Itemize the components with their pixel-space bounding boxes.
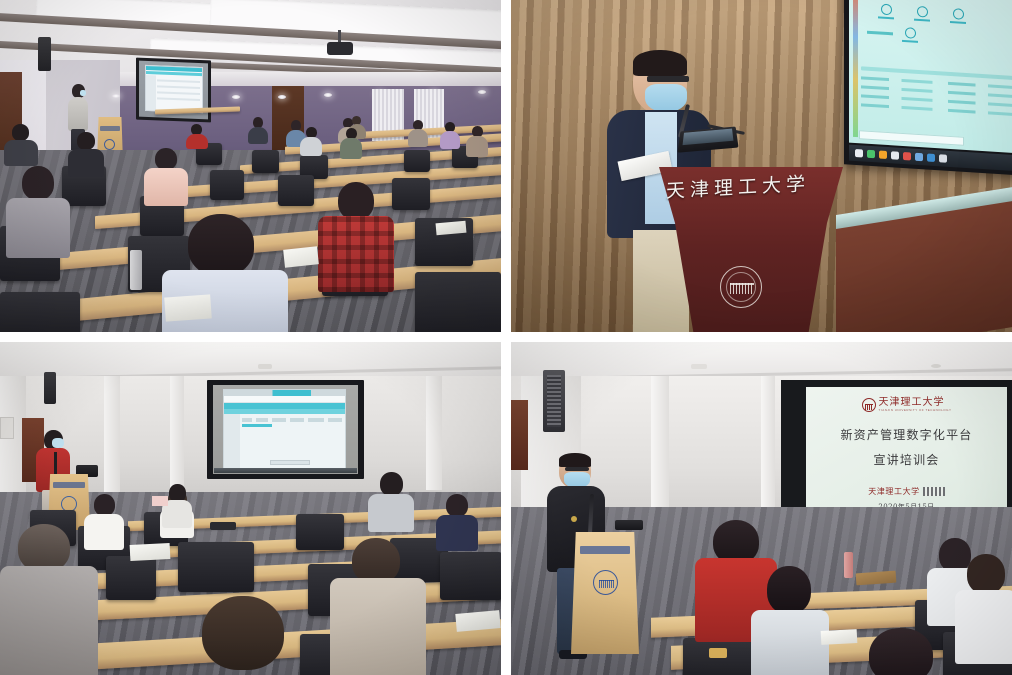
search-field xyxy=(859,130,964,146)
dashboard-card xyxy=(911,5,933,22)
attendee xyxy=(186,124,208,148)
attendee xyxy=(751,566,829,675)
chair xyxy=(178,542,254,592)
chair xyxy=(404,150,430,172)
notebook xyxy=(130,543,171,561)
downlight xyxy=(232,95,240,99)
wall-speaker xyxy=(543,370,565,432)
app-table-row xyxy=(157,97,200,101)
card-icon xyxy=(953,8,964,20)
presenter-torso xyxy=(68,97,88,131)
chair xyxy=(210,170,244,200)
photo-top-right[interactable]: 天津理工大学 xyxy=(511,0,1012,332)
laptop-screen xyxy=(683,129,734,146)
wall-speaker xyxy=(44,372,56,404)
desktop-icon-column xyxy=(853,0,858,137)
podium xyxy=(571,532,639,654)
attendee xyxy=(144,148,188,204)
notebook xyxy=(455,610,500,632)
attendee xyxy=(300,127,322,155)
attendee xyxy=(466,126,488,156)
taskbar-app-icon xyxy=(891,151,899,160)
attendee xyxy=(368,472,414,530)
attendee xyxy=(4,124,38,164)
card-label xyxy=(914,19,930,22)
windows-taskbar xyxy=(214,468,357,473)
thermos-bottle xyxy=(130,250,142,290)
card-icon xyxy=(905,27,916,39)
attendee xyxy=(408,120,428,146)
notebook xyxy=(164,294,212,321)
gutter-center xyxy=(501,332,511,342)
taskbar-app-icon xyxy=(879,150,887,159)
wall-pillar xyxy=(651,376,669,514)
attendee xyxy=(436,494,478,550)
card-label xyxy=(902,40,918,43)
mobile-phone xyxy=(210,522,236,530)
pagination-bar xyxy=(270,460,310,465)
projection-screen-frame: 天津理工大学 TIANJIN UNIVERSITY OF TECHNOLOGY … xyxy=(781,380,1012,525)
face-mask xyxy=(52,438,64,448)
photo-collage: 天津理工大学 xyxy=(0,0,1012,675)
slide-title-line-2: 宣讲培训会 xyxy=(873,451,939,468)
card-icon xyxy=(881,4,892,16)
taskbar-app-icon xyxy=(903,152,911,161)
gutter-horizontal-left xyxy=(0,332,501,342)
app-table-row xyxy=(157,85,200,89)
smoke-detector xyxy=(258,364,272,369)
attendee xyxy=(248,117,268,143)
dashboard-card xyxy=(899,27,921,44)
notebook xyxy=(821,629,858,645)
classroom-scene-white xyxy=(0,342,501,675)
university-seal xyxy=(104,139,115,150)
chair xyxy=(106,556,156,600)
table-header-row xyxy=(242,418,342,422)
downlight xyxy=(478,90,486,94)
eyeglasses xyxy=(565,467,589,471)
chair xyxy=(0,292,80,332)
podium-institution-plate xyxy=(100,126,120,131)
dashboard-card-row xyxy=(875,3,969,25)
projection-screen xyxy=(213,385,358,474)
taskbar-app-icon xyxy=(927,153,935,162)
face-mask xyxy=(80,90,86,96)
photo-top-left[interactable] xyxy=(0,0,501,332)
wall-pillar xyxy=(426,376,442,490)
card-label xyxy=(950,21,966,24)
slide-title-line-1: 新资产管理数字化平台 xyxy=(840,426,972,443)
gutter-vertical-bottom xyxy=(501,342,511,675)
presenter-hair xyxy=(633,50,687,76)
wall-pillar xyxy=(170,376,184,492)
app-sidebar xyxy=(146,75,156,110)
ceiling-vent xyxy=(691,364,707,369)
slide-footer-logo: 天津理工大学 xyxy=(868,486,945,497)
podium-institution-plate xyxy=(53,482,85,488)
attendee xyxy=(955,554,1012,662)
footer-wordmark: 天津理工大学 xyxy=(868,486,920,497)
app-sidebar xyxy=(224,414,240,469)
attendee-foreground xyxy=(855,628,947,675)
podium-institution-plate xyxy=(580,546,630,554)
seal-building-glyph xyxy=(730,283,754,294)
projector xyxy=(327,42,353,55)
face-mask xyxy=(645,84,687,112)
eyeglasses-case xyxy=(709,648,727,658)
speaker-grill xyxy=(547,375,561,427)
downlight xyxy=(324,93,332,97)
university-seal xyxy=(593,570,618,595)
podium-closeup-scene: 天津理工大学 xyxy=(511,0,1012,332)
wall-pillar xyxy=(104,376,120,494)
data-table xyxy=(861,66,1012,116)
university-seal xyxy=(720,266,762,308)
downlight xyxy=(112,94,120,98)
wall-panel xyxy=(0,417,14,439)
attendee-foreground xyxy=(0,524,98,675)
attendee-foreground xyxy=(188,596,304,675)
attendee xyxy=(6,166,70,256)
dashboard-card-row xyxy=(899,27,921,44)
paper-cup xyxy=(152,496,168,506)
chair xyxy=(278,175,314,206)
eyeglasses xyxy=(647,76,689,82)
app-table-row xyxy=(157,79,200,83)
attendee xyxy=(440,122,460,148)
notebook xyxy=(283,246,319,267)
lapel-pin xyxy=(571,516,577,522)
projected-browser xyxy=(223,389,346,470)
wall-speaker xyxy=(38,37,51,71)
wall-pillar xyxy=(761,376,775,510)
taskbar-app-icon xyxy=(939,154,947,163)
attendee xyxy=(318,182,394,290)
laptop xyxy=(615,520,643,530)
chair xyxy=(440,552,501,600)
attendee xyxy=(68,132,104,174)
footer-logo-bar xyxy=(923,487,945,496)
dashboard-card xyxy=(875,3,897,20)
table-selected-cell xyxy=(242,424,272,427)
browser-toolbar xyxy=(224,396,345,403)
water-bottle xyxy=(844,552,853,578)
wall-display-frame xyxy=(844,0,1012,176)
chair xyxy=(392,178,430,210)
photo-bottom-left[interactable] xyxy=(0,342,501,675)
photo-bottom-right[interactable]: 天津理工大学 TIANJIN UNIVERSITY OF TECHNOLOGY … xyxy=(511,342,1012,675)
title-slide: 天津理工大学 TIANJIN UNIVERSITY OF TECHNOLOGY … xyxy=(806,387,1007,518)
card-icon xyxy=(917,6,928,18)
projection-screen-frame xyxy=(207,380,364,479)
chair xyxy=(415,272,501,332)
chair xyxy=(252,150,279,173)
gutter-horizontal-right xyxy=(511,332,1012,342)
logo-wordmark: 天津理工大学 xyxy=(879,398,952,408)
panel-title xyxy=(867,31,893,36)
taskbar-app-icon xyxy=(915,153,923,162)
attendee xyxy=(340,128,362,158)
attendee-foreground xyxy=(330,538,426,675)
wall-display-screen xyxy=(849,0,1012,153)
presenter-hair xyxy=(559,453,591,467)
door xyxy=(511,400,528,470)
app-table-row xyxy=(157,91,200,95)
smoke-detector xyxy=(931,364,941,368)
logo-seal-icon xyxy=(862,398,876,412)
start-icon xyxy=(855,149,863,158)
dashboard-card xyxy=(947,8,969,25)
projected-web-app xyxy=(145,65,203,113)
app-subnav-bar xyxy=(224,409,345,414)
classroom-scene-wide xyxy=(0,0,501,332)
taskbar-app-icon xyxy=(867,150,875,159)
card-label xyxy=(878,16,894,19)
title-slide-scene: 天津理工大学 TIANJIN UNIVERSITY OF TECHNOLOGY … xyxy=(511,342,1012,675)
downlight xyxy=(278,95,286,99)
university-logo: 天津理工大学 TIANJIN UNIVERSITY OF TECHNOLOGY xyxy=(862,398,952,412)
logo-subtext: TIANJIN UNIVERSITY OF TECHNOLOGY xyxy=(879,408,952,412)
gutter-vertical-top xyxy=(501,0,511,332)
